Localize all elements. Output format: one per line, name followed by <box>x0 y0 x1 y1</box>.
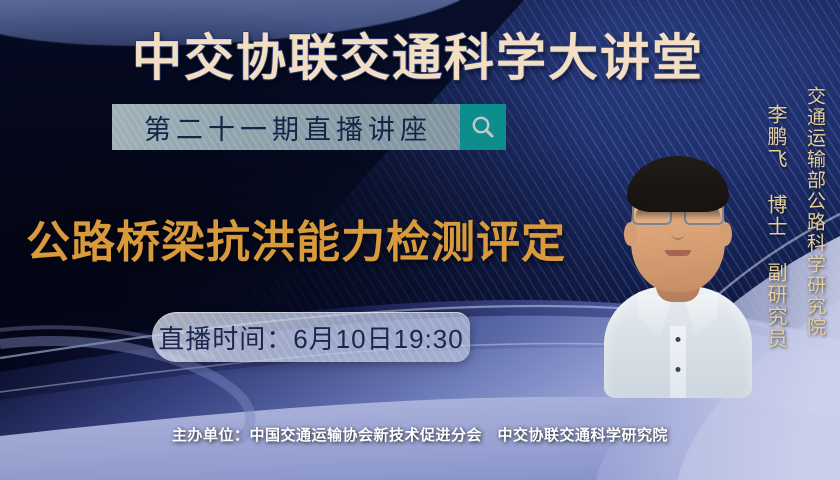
broadcast-time-pill: 直播时间：6月10日19:30 <box>152 312 470 362</box>
portrait-nose <box>671 222 685 240</box>
session-label: 第二十一期直播讲座 <box>140 108 432 147</box>
speaker-portrait <box>604 148 752 398</box>
organizers-footer: 主办单位：中国交通运输协会新技术促进分会 中交协联交通科学研究院 <box>0 424 840 445</box>
session-banner-body: 第二十一期直播讲座 <box>112 104 460 150</box>
speaker-organization: 交通运输部公路科学研究院 <box>801 86 828 338</box>
poster-main-title: 中交协联交通科学大讲堂 <box>132 18 704 90</box>
broadcast-time-text: 直播时间：6月10日19:30 <box>158 319 463 356</box>
session-banner: 第二十一期直播讲座 <box>112 104 506 150</box>
portrait-mouth <box>665 250 691 256</box>
portrait-shirt-button <box>676 367 681 372</box>
poster-canvas: 中交协联交通科学大讲堂 第二十一期直播讲座 公路桥梁抗洪能力检测评定 直播时间：… <box>0 0 840 480</box>
portrait-ear-left <box>624 222 637 246</box>
lecture-headline: 公路桥梁抗洪能力检测评定 <box>26 206 566 270</box>
portrait-shirt-button <box>676 337 681 342</box>
search-icon-box[interactable] <box>460 104 506 150</box>
portrait-hair <box>627 156 729 212</box>
search-icon <box>470 114 496 140</box>
portrait-ear-right <box>719 222 732 246</box>
speaker-name-title: 李鹏飞 博士 副研究员 <box>761 104 790 350</box>
